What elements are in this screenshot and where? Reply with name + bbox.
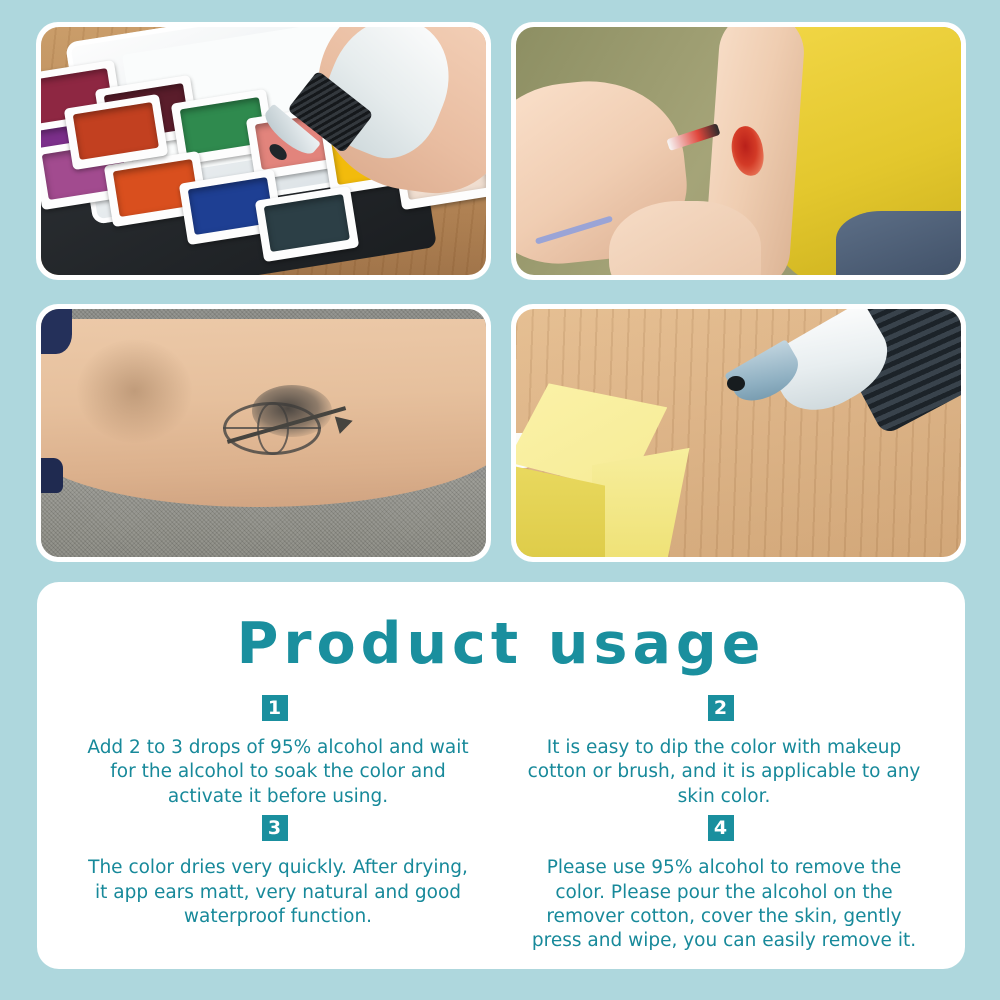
product-usage-panel: Product usage 1 Add 2 to 3 drops of 95% … <box>37 582 965 969</box>
usage-step-2: 2 It is easy to dip the color with makeu… <box>505 695 943 809</box>
badge-number: 3 <box>262 815 288 841</box>
photo-card-sponge <box>511 304 966 562</box>
usage-step-text: The color dries very quickly. After dryi… <box>59 856 497 929</box>
photo-grid <box>36 22 966 562</box>
page-title: Product usage <box>37 616 965 673</box>
step-number-badge: 3 <box>262 815 295 847</box>
photo-card-tattoo <box>36 304 491 562</box>
step-number-badge: 2 <box>708 695 741 727</box>
step-number-badge: 4 <box>708 815 741 847</box>
usage-step-text: Add 2 to 3 drops of 95% alcohol and wait… <box>59 736 497 809</box>
photo-tattoo <box>41 309 486 557</box>
shorts-edge-bottom <box>41 458 63 493</box>
photo-wound <box>516 27 961 275</box>
step-number-badge: 1 <box>262 695 295 727</box>
bottle-nozzle-opening <box>727 376 745 391</box>
photo-card-palette <box>36 22 491 280</box>
badge-number: 1 <box>262 695 288 721</box>
badge-number: 2 <box>708 695 734 721</box>
usage-step-3: 3 The color dries very quickly. After dr… <box>59 815 497 954</box>
tattoo-artwork <box>215 388 349 462</box>
photo-sponge <box>516 309 961 557</box>
jeans <box>836 211 961 275</box>
photo-palette <box>41 27 486 275</box>
product-usage-infographic: Product usage 1 Add 2 to 3 drops of 95% … <box>0 0 1000 1000</box>
usage-step-text: It is easy to dip the color with makeup … <box>505 736 943 809</box>
usage-step-4: 4 Please use 95% alcohol to remove the c… <box>505 815 943 954</box>
badge-number: 4 <box>708 815 734 841</box>
photo-card-wound <box>511 22 966 280</box>
shorts-edge-top <box>41 309 72 354</box>
usage-step-text: Please use 95% alcohol to remove the col… <box>505 856 943 954</box>
usage-step-1: 1 Add 2 to 3 drops of 95% alcohol and wa… <box>59 695 497 809</box>
usage-steps-grid: 1 Add 2 to 3 drops of 95% alcohol and wa… <box>37 695 965 954</box>
knee-shadow <box>77 339 193 443</box>
